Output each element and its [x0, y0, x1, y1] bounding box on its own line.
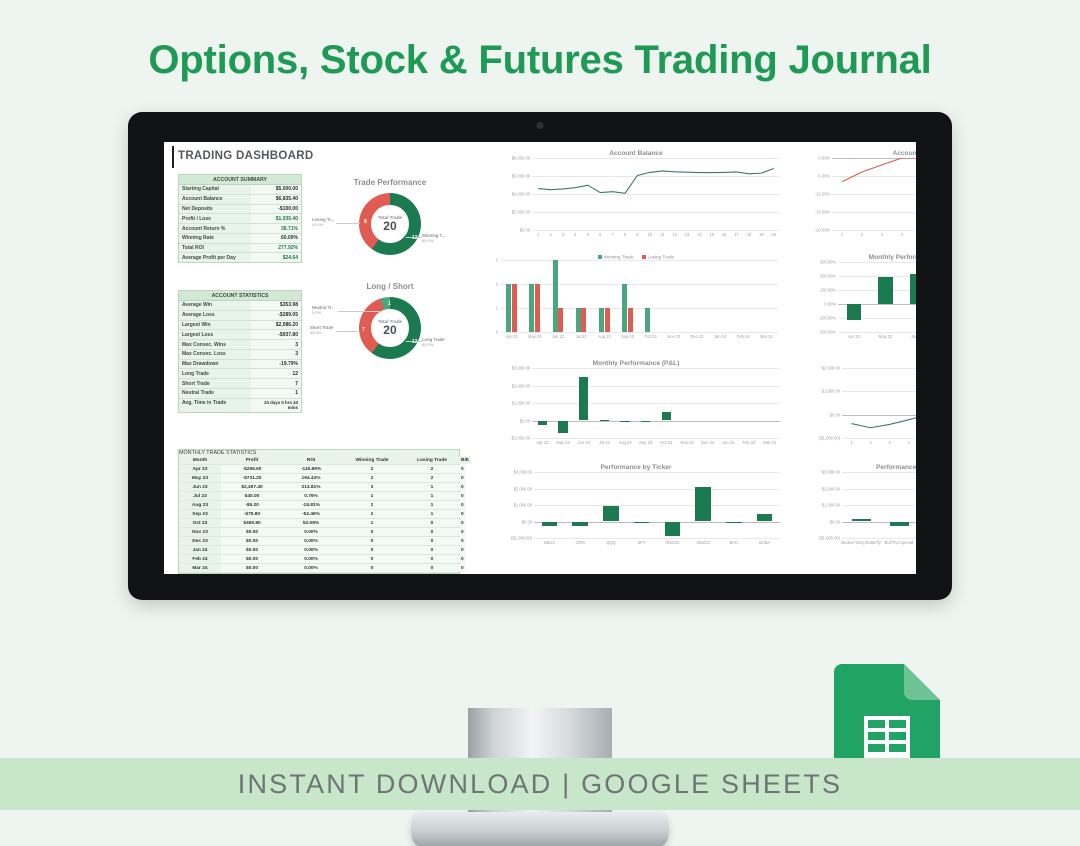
gridline — [532, 421, 780, 422]
y-axis-tick: $2,000.00 — [822, 486, 840, 491]
gridline — [534, 472, 780, 473]
bar — [726, 522, 741, 523]
bar — [542, 522, 557, 527]
table-cell: 1 — [339, 492, 405, 500]
table-cell: 0 — [459, 483, 466, 491]
donut-callout: Winning T...60.0% — [422, 233, 445, 243]
gridlines — [838, 262, 916, 332]
table-cell: 1 — [405, 501, 459, 509]
table-row: Total ROI277.92% — [179, 244, 301, 254]
x-axis-tick: Broken Wing Butterfly — [841, 540, 881, 545]
table-cell: 0 — [339, 528, 405, 536]
callout-leader — [336, 331, 358, 332]
monthly-performance-pl-chart: Monthly Performance (P&L) -$1,000.00$0.0… — [486, 360, 786, 460]
y-axis-tick: $1,000.00 — [822, 503, 840, 508]
table-cell: Jun 23 — [179, 483, 221, 491]
row-label: Max Consec. Wins — [179, 340, 251, 349]
row-label: Largest Win — [179, 321, 251, 330]
bar — [665, 522, 680, 537]
bar — [558, 421, 567, 434]
table-cell: Oct 23 — [179, 519, 221, 527]
y-axis-tick: -200.00% — [818, 330, 836, 335]
plot-area: -$1,000.00$0.00$1,000.00$2,000.00$3,000.… — [532, 368, 780, 438]
donut-slice-value: 1 — [388, 301, 391, 307]
chart-title: Account Drawdown — [798, 150, 916, 157]
row-value: $6,835.40 — [251, 195, 301, 204]
x-axis-tick: May 23 — [528, 334, 541, 339]
y-axis-tick: $1,000.00 — [512, 401, 530, 406]
x-axis-tick: /ESZ23 — [666, 540, 680, 545]
long-short-title: Long / Short — [310, 282, 470, 291]
callout-leader — [338, 311, 382, 312]
page-title: Options, Stock & Futures Trading Journal — [0, 38, 1080, 83]
y-axis-tick: 0.00% — [818, 156, 830, 161]
table-cell: 1 — [405, 510, 459, 518]
y-axis-tick: $0.00 — [522, 519, 532, 524]
table-cell: -52.46% — [283, 510, 339, 518]
table-cell: Losing Trade — [405, 456, 459, 464]
line-series — [532, 158, 780, 230]
gridline — [534, 538, 780, 539]
table-cell: -$731.20 — [221, 474, 283, 482]
table-cell: Apr 23 — [179, 465, 221, 473]
x-axis-tick: Nov 23 — [667, 334, 680, 339]
gridline — [500, 284, 778, 285]
y-axis-tick: ($1,000.00) — [819, 536, 840, 541]
table-cell: Winning Trade — [339, 456, 405, 464]
row-label: Account Balance — [179, 195, 251, 204]
x-axis-tick: Jan 24 — [714, 334, 726, 339]
footer-banner: INSTANT DOWNLOAD | GOOGLE SHEETS — [0, 758, 1080, 810]
y-axis-tick: -5.00% — [817, 174, 830, 179]
footer-label: INSTANT DOWNLOAD | GOOGLE SHEETS — [0, 769, 1080, 800]
row-label: Average Win — [179, 301, 251, 310]
row-value: $353.98 — [251, 301, 301, 310]
row-value: 12 — [251, 369, 301, 378]
x-axis-tick: SPY — [638, 540, 646, 545]
table-cell: 1 — [339, 501, 405, 509]
table-row: Mar 24$0.000.00%000 — [179, 564, 459, 573]
bar — [538, 421, 547, 426]
x-axis-tick: 2 — [869, 440, 871, 445]
chart-title: Cumulative — [798, 360, 916, 367]
x-axis-tick: Sep 23 — [639, 440, 652, 445]
row-value: 7 — [251, 379, 301, 388]
x-axis-tick: 14 — [697, 232, 702, 237]
table-cell: $0.00 — [221, 555, 283, 563]
dashboard-title: TRADING DASHBOARD — [178, 150, 313, 162]
donut-center: Total Trade20 — [371, 205, 408, 242]
table-row: Profit / Loss$1,935.40 — [179, 214, 301, 224]
account-drawdown-chart: Account Drawdown -20.00%-15.00%-10.00%-5… — [798, 150, 916, 246]
row-value: $24.64 — [251, 253, 301, 262]
camera-dot-icon — [537, 122, 544, 129]
x-axis-tick: 5 — [587, 232, 589, 237]
table-cell: 3 — [339, 483, 405, 491]
gridline — [842, 505, 916, 506]
x-axis-tick: Jun 23 — [911, 334, 916, 339]
x-axis-tick: 2 — [549, 232, 551, 237]
table-cell: Aug 23 — [179, 501, 221, 509]
row-value: -$289.05 — [251, 311, 301, 320]
y-axis-tick: -100.00% — [818, 316, 836, 321]
x-axis-tick: Oct 23 — [660, 440, 672, 445]
y-axis-tick: 0.00% — [824, 302, 836, 307]
y-axis-tick: 100.00% — [820, 288, 836, 293]
table-row: Aug 23-$5.20-15.81%110 — [179, 501, 459, 510]
row-label: Long Trade — [179, 369, 251, 378]
table-cell: 0 — [339, 537, 405, 545]
plot-area: 0123Apr 23May 23Jun 23Jul 23Aug 23Sep 23… — [500, 260, 778, 332]
table-cell: 0 — [339, 564, 405, 572]
y-axis-tick: 1 — [496, 306, 498, 311]
account-statistics-table: ACCOUNT STATISTICS Average Win$353.98Ave… — [178, 290, 302, 413]
gridline — [500, 308, 778, 309]
chart-title: Account Balance — [486, 150, 786, 157]
y-axis-tick: $3,000.00 — [514, 470, 532, 475]
table-cell: 0.76% — [283, 492, 339, 500]
y-axis-tick: $0.00 — [830, 519, 840, 524]
row-label: Largest Loss — [179, 330, 251, 339]
account-summary-header: ACCOUNT SUMMARY — [179, 175, 301, 185]
account-balance-chart: Account Balance $0.00$2,000.00$4,000.00$… — [486, 150, 786, 246]
x-axis-tick: Nov 23 — [681, 440, 694, 445]
row-value: 60.00% — [251, 234, 301, 243]
bar — [622, 284, 627, 332]
gridline — [534, 505, 780, 506]
plot-area: ($1,000.00)$0.00$1,000.00$2,000.00123456… — [842, 368, 916, 438]
bar — [553, 260, 558, 332]
x-axis-tick: Apr 23 — [506, 334, 518, 339]
x-axis-tick: 9 — [636, 232, 638, 237]
x-axis-tick: 18 — [747, 232, 752, 237]
gridline — [534, 489, 780, 490]
y-axis-tick: -10.00% — [815, 192, 830, 197]
x-axis-tick: Apr 23 — [848, 334, 860, 339]
x-axis-tick: 16 — [722, 232, 727, 237]
row-value: 24 days 0 hrs 43 mins — [251, 399, 301, 412]
table-row: Apr 23-$259.60-116.89%220 — [179, 465, 459, 474]
table-cell: Sep 23 — [179, 510, 221, 518]
table-cell: ROI — [283, 456, 339, 464]
table-row: Nov 23$0.000.00%000 — [179, 528, 459, 537]
trade-performance-chart: Trade Performance Total Trade20Losing Tr… — [310, 178, 470, 276]
donut-slice-value: 8 — [364, 219, 367, 225]
x-axis-tick: Jun 23 — [552, 334, 564, 339]
table-row: TOTAL$1,935.40277.92%1280 — [179, 573, 459, 574]
y-axis-tick: $8,000.00 — [512, 156, 530, 161]
plot-area: ($1,000.00)$0.00$1,000.00$2,000.00$3,000… — [842, 472, 916, 538]
winning-losing-trades-chart: Winning TradeLosing Trade 0123Apr 23May … — [486, 254, 786, 354]
gridlines — [842, 472, 916, 538]
table-cell: $469.80 — [221, 519, 283, 527]
table-row: Feb 24$0.000.00%000 — [179, 555, 459, 564]
trading-dashboard: TRADING DASHBOARD ACCOUNT SUMMARY Starti… — [164, 142, 916, 574]
row-label: Max Consec. Loss — [179, 350, 251, 359]
bar — [581, 308, 586, 332]
bar — [512, 284, 517, 332]
bar — [628, 308, 633, 332]
table-cell: 0 — [459, 564, 466, 572]
row-value: -$100.00 — [251, 205, 301, 214]
table-cell: $0.00 — [221, 528, 283, 536]
chart-legend: Winning TradeLosing Trade — [486, 254, 786, 259]
callout-leader — [406, 237, 422, 238]
x-axis-tick: Jun 23 — [578, 440, 590, 445]
callout-leader — [336, 223, 360, 224]
x-axis-tick: 3 — [881, 232, 883, 237]
gridline — [532, 230, 780, 231]
y-axis-tick: $2,000.00 — [514, 486, 532, 491]
table-cell: 0 — [459, 501, 466, 509]
table-cell: Profit — [221, 456, 283, 464]
x-axis-tick: BABA — [759, 540, 770, 545]
row-label: Profit / Loss — [179, 214, 251, 223]
table-cell: 0 — [459, 537, 466, 545]
row-label: Net Deposits — [179, 205, 251, 214]
donut-center-value: 20 — [383, 220, 396, 232]
gridline — [532, 368, 780, 369]
gridline — [838, 262, 916, 263]
table-cell: -$259.60 — [221, 465, 283, 473]
row-value: -$937.80 — [251, 330, 301, 339]
table-row: Account Balance$6,835.40 — [179, 195, 301, 205]
donut-callout: Losing Tr...40.0% — [312, 217, 334, 227]
monitor-bezel: TRADING DASHBOARD ACCOUNT SUMMARY Starti… — [128, 112, 952, 600]
table-row: Max Drawdown-19.79% — [179, 360, 301, 370]
table-cell: 1 — [405, 483, 459, 491]
table-cell: 2 — [339, 465, 405, 473]
table-cell: 1 — [339, 519, 405, 527]
chart-title: Performance by Strategy — [798, 464, 916, 471]
bar — [579, 377, 588, 421]
x-axis-tick: 10 — [648, 232, 653, 237]
x-axis-tick: 11 — [660, 232, 664, 237]
table-cell: $0.00 — [221, 564, 283, 572]
table-row: Max Consec. Loss3 — [179, 350, 301, 360]
table-cell: 0.00% — [283, 537, 339, 545]
monitor-stand-base — [411, 812, 669, 846]
x-axis-tick: Aug 23 — [619, 440, 632, 445]
chart-title: Monthly Performance (ROI) — [798, 254, 916, 261]
callout-leader — [406, 341, 422, 342]
gridlines — [532, 368, 780, 438]
plot-area: ($1,000.00)$0.00$1,000.00$2,000.00$3,000… — [534, 472, 780, 538]
table-cell: 0 — [459, 474, 466, 482]
bar — [662, 412, 671, 420]
y-axis-tick: -20.00% — [815, 228, 830, 233]
row-value: 3 — [251, 340, 301, 349]
donut-center-value: 20 — [383, 324, 396, 336]
row-label: Short Trade — [179, 379, 251, 388]
y-axis-tick: ($1,000.00) — [819, 436, 840, 441]
x-axis-tick: Sep 23 — [621, 334, 634, 339]
table-row: Neutral Trade1 — [179, 389, 301, 399]
y-axis-tick: $0.00 — [830, 412, 840, 417]
bar — [506, 284, 511, 332]
y-axis-tick: 0 — [496, 330, 498, 335]
row-value: $5,000.00 — [251, 185, 301, 194]
table-cell: 1 — [405, 492, 459, 500]
table-row: Avg. Time in Trade24 days 0 hrs 43 mins — [179, 399, 301, 412]
x-axis-tick: SBUX — [544, 540, 555, 545]
x-axis-tick: Jul 23 — [599, 440, 610, 445]
table-cell: 0.00% — [283, 546, 339, 554]
table-cell: Nov 23 — [179, 528, 221, 536]
x-axis-tick: 17 — [734, 232, 739, 237]
gridline — [832, 230, 916, 231]
x-axis-tick: Feb 24 — [737, 334, 750, 339]
row-value: $2,086.20 — [251, 321, 301, 330]
table-cell: 0 — [339, 555, 405, 563]
x-axis-tick: Oct 23 — [645, 334, 657, 339]
x-axis-tick: 8 — [624, 232, 626, 237]
table-row: Oct 23$469.8053.08%100 — [179, 519, 459, 528]
table-row: Short Trade7 — [179, 379, 301, 389]
donut-graphic: Total Trade20Neutral Tr.5.0%1Short Trade… — [310, 291, 470, 373]
x-axis-tick: Jul 23 — [576, 334, 587, 339]
table-row: Average Loss-$289.05 — [179, 311, 301, 321]
gridline — [842, 489, 916, 490]
trade-performance-title: Trade Performance — [310, 178, 470, 187]
table-cell: 2 — [339, 474, 405, 482]
bar — [645, 308, 650, 332]
x-axis-tick: 15 — [710, 232, 715, 237]
x-axis-tick: May 23 — [556, 440, 569, 445]
table-row: May 23-$731.20194.43%220 — [179, 474, 459, 483]
x-axis-tick: Feb 24 — [743, 440, 756, 445]
bar — [599, 308, 604, 332]
row-label: Average Loss — [179, 311, 251, 320]
table-cell: Feb 24 — [179, 555, 221, 563]
table-cell: 2 — [405, 465, 459, 473]
performance-by-strategy-chart: Performance by Strategy ($1,000.00)$0.00… — [798, 464, 916, 564]
y-axis-tick: 200.00% — [820, 274, 836, 279]
donut-callout: Long Trade60.0% — [422, 337, 445, 347]
x-axis-tick: 3 — [888, 440, 890, 445]
gridline — [532, 386, 780, 387]
account-statistics-header: ACCOUNT STATISTICS — [179, 291, 301, 301]
gridline — [532, 403, 780, 404]
line-series — [842, 368, 916, 438]
bar — [847, 304, 861, 320]
legend-label: Losing Trade — [648, 254, 675, 259]
table-cell: $2,497.40 — [221, 483, 283, 491]
donut-graphic: Total Trade20Losing Tr...40.0%8Winning T… — [310, 187, 470, 267]
y-axis-tick: ($1,000.00) — [511, 536, 532, 541]
bar — [910, 274, 916, 304]
table-cell: 0.00% — [283, 555, 339, 563]
row-label: Max Drawdown — [179, 360, 251, 369]
row-value: 3 — [251, 350, 301, 359]
bar — [620, 421, 629, 422]
plot-area: $0.00$2,000.00$4,000.00$6,000.00$8,000.0… — [532, 158, 780, 230]
table-cell: 0 — [459, 519, 466, 527]
table-cell: 214.81% — [283, 483, 339, 491]
table-cell: 0 — [459, 528, 466, 536]
table-cell: 0.00% — [283, 528, 339, 536]
bar — [529, 284, 534, 332]
table-cell: 0 — [459, 546, 466, 554]
table-cell: Month — [179, 456, 221, 464]
table-cell: 0 — [405, 537, 459, 545]
donut-slice-value: 12 — [412, 339, 418, 345]
x-axis-tick: 19 — [759, 232, 764, 237]
row-value: 1 — [251, 389, 301, 398]
table-row: Long Trade12 — [179, 369, 301, 379]
gridline — [838, 290, 916, 291]
table-cell: 0.00% — [283, 564, 339, 572]
table-cell: 0 — [405, 564, 459, 572]
x-axis-tick: 7 — [611, 232, 613, 237]
x-axis-tick: 4 — [907, 440, 909, 445]
donut-callout: Neutral Tr.5.0% — [312, 305, 332, 315]
table-cell: 53.08% — [283, 519, 339, 527]
bar — [634, 522, 649, 523]
gridlines — [500, 260, 778, 332]
table-row: Largest Loss-$937.80 — [179, 330, 301, 340]
x-axis-tick: 1 — [537, 232, 539, 237]
table-cell: -15.81% — [283, 501, 339, 509]
table-cell: 0 — [459, 510, 466, 518]
monitor-screen: TRADING DASHBOARD ACCOUNT SUMMARY Starti… — [164, 142, 916, 574]
x-axis-tick: 3 — [562, 232, 564, 237]
bar — [600, 420, 609, 421]
bar — [535, 284, 540, 332]
table-cell: 0 — [459, 465, 466, 473]
bar — [576, 308, 581, 332]
table-cell: 2 — [405, 474, 459, 482]
x-axis-tick: 13 — [685, 232, 690, 237]
row-value: -19.79% — [251, 360, 301, 369]
row-label: Starting Capital — [179, 185, 251, 194]
table-cell: 2 — [339, 510, 405, 518]
legend-item: Losing Trade — [642, 254, 675, 259]
y-axis-tick: $0.00 — [520, 418, 530, 423]
monthly-performance-roi-chart: Monthly Performance (ROI) -200.00%-100.0… — [798, 254, 916, 354]
table-cell: 0 — [405, 555, 459, 563]
x-axis-tick: 6 — [599, 232, 601, 237]
table-row: Dec 23$0.000.00%000 — [179, 537, 459, 546]
table-cell: $40.00 — [221, 492, 283, 500]
table-cell: 0 — [339, 546, 405, 554]
donut-slice-value: 7 — [362, 327, 365, 333]
gridline — [842, 438, 916, 439]
table-cell: 0 — [405, 528, 459, 536]
x-axis-tick: Jan 24 — [722, 440, 734, 445]
table-row: Jul 23$40.000.76%110 — [179, 492, 459, 501]
table-cell: 0 — [459, 555, 466, 563]
legend-label: Winning Trade — [604, 254, 634, 259]
account-summary-table: ACCOUNT SUMMARY Starting Capital$5,000.0… — [178, 174, 302, 263]
y-axis-tick: $2,000.00 — [512, 383, 530, 388]
table-row: MonthProfitROIWinning TradeLosing TradeB… — [179, 456, 459, 465]
legend-swatch — [642, 255, 646, 259]
table-row: Jun 23$2,497.40214.81%310 — [179, 483, 459, 492]
bar — [605, 308, 610, 332]
table-row: Average Win$353.98 — [179, 301, 301, 311]
table-cell: $0.00 — [221, 537, 283, 545]
table-row: Net Deposits-$100.00 — [179, 205, 301, 215]
monitor-mockup: TRADING DASHBOARD ACCOUNT SUMMARY Starti… — [128, 112, 952, 600]
table-cell: B/E — [459, 456, 471, 464]
x-axis-tick: 20 — [772, 232, 777, 237]
y-axis-tick: $2,000.00 — [512, 210, 530, 215]
y-axis-tick: $3,000.00 — [512, 366, 530, 371]
x-axis-tick: QQQ — [606, 540, 616, 545]
bar — [878, 277, 892, 304]
table-row: Sep 23-$75.80-52.46%210 — [179, 510, 459, 519]
